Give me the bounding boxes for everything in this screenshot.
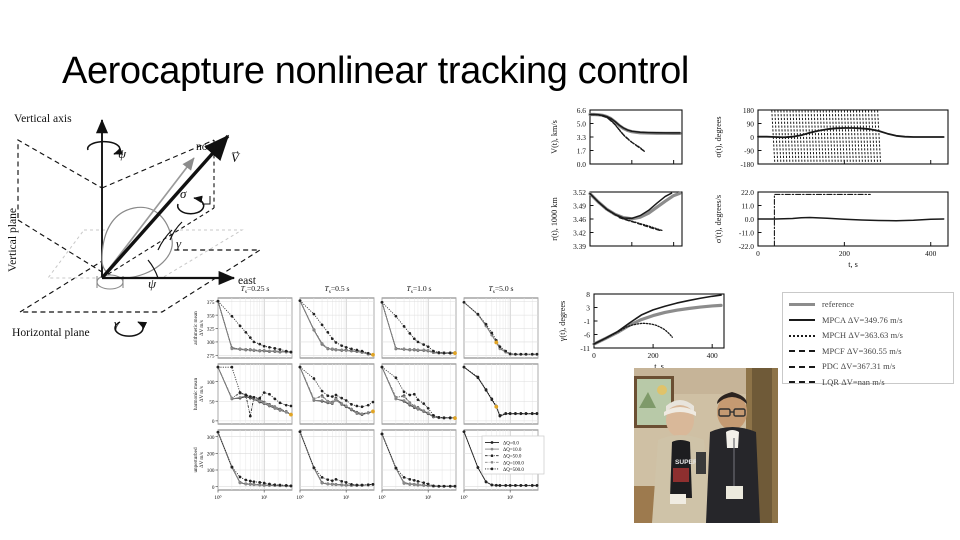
- svg-text:90: 90: [747, 120, 755, 129]
- svg-text:3.3: 3.3: [577, 133, 587, 142]
- svg-text:325: 325: [207, 327, 215, 333]
- photo-art-circle: [657, 385, 667, 395]
- gamma-rotation-arc: [115, 322, 143, 336]
- svg-text:Ts=5.0 s: Ts=5.0 s: [489, 284, 514, 295]
- label-horizontal-plane: Horizontal plane: [12, 326, 90, 339]
- svg-text:300: 300: [207, 340, 215, 346]
- svg-text:0.0: 0.0: [745, 215, 755, 224]
- svg-text:-11.0: -11.0: [739, 229, 754, 238]
- svg-text:Ts=0.25 s: Ts=0.25 s: [241, 284, 270, 295]
- legend-row: LQR ΔV=nan m/s: [789, 375, 947, 391]
- svg-text:ΔQ=50.0: ΔQ=50.0: [503, 455, 522, 460]
- svg-text:3.49: 3.49: [573, 202, 586, 211]
- label-gamma-lower: γ: [114, 316, 120, 331]
- svg-text:400: 400: [707, 351, 718, 360]
- legend-row: reference: [789, 297, 947, 313]
- slide-canvas: Aerocapture nonlinear tracking control: [0, 0, 960, 540]
- svg-text:-90: -90: [744, 147, 754, 156]
- photo-shirt-text: SUPER: [675, 459, 698, 466]
- chart-velocity-history: 0.01.73.35.06.6V(t), km/s: [546, 104, 686, 176]
- legend-swatch-mpch: [789, 335, 815, 337]
- legend-row: PDC ΔV=367.31 m/s: [789, 359, 947, 375]
- page-title: Aerocapture nonlinear tracking control: [62, 48, 902, 96]
- legend-row: MPCH ΔV=363.63 m/s: [789, 328, 947, 344]
- psi-rotation-arc-top: [88, 142, 120, 154]
- label-sigma: σ: [180, 186, 187, 201]
- vertical-plane-outline: [18, 140, 102, 272]
- svg-text:t, s: t, s: [848, 260, 858, 269]
- svg-text:10⁰: 10⁰: [296, 495, 303, 501]
- svg-text:ΔV m/s: ΔV m/s: [199, 452, 205, 468]
- legend-row: MPCA ΔV=349.76 m/s: [789, 313, 947, 329]
- svg-text:σ'(t), degrees/s: σ'(t), degrees/s: [714, 195, 723, 243]
- svg-text:8: 8: [586, 290, 590, 299]
- legend-label-reference: reference: [822, 300, 854, 309]
- svg-text:11.0: 11.0: [741, 202, 754, 211]
- svg-text:375: 375: [207, 300, 215, 306]
- svg-text:300: 300: [207, 435, 215, 441]
- svg-text:-180: -180: [740, 160, 754, 169]
- svg-text:0.0: 0.0: [577, 160, 587, 169]
- chart-bank-angle-history: -180-90090180σ(t), degrees: [708, 104, 952, 176]
- svg-text:0: 0: [592, 351, 596, 360]
- svg-text:6.6: 6.6: [577, 106, 587, 115]
- svg-text:1.7: 1.7: [577, 147, 587, 156]
- label-north: north: [196, 140, 221, 153]
- legend-swatch-mpca: [789, 319, 815, 321]
- conference-photo-two-people: SUPER: [634, 368, 778, 523]
- svg-text:10⁰: 10⁰: [378, 495, 385, 501]
- chart-bank-rate-history: -22.0-11.00.011.022.00200400σ'(t), degre…: [708, 186, 952, 272]
- svg-text:ΔV m/s: ΔV m/s: [199, 320, 205, 336]
- svg-text:-11: -11: [580, 344, 590, 353]
- svg-text:10¹: 10¹: [261, 495, 268, 501]
- svg-text:10⁰: 10⁰: [214, 495, 221, 501]
- photo-shirt-graphic: [673, 468, 689, 482]
- svg-text:10⁰: 10⁰: [460, 495, 467, 501]
- svg-text:200: 200: [648, 351, 659, 360]
- svg-text:3.39: 3.39: [573, 242, 586, 251]
- chart-flight-path-angle-history: -11-6-1380200400γ(t), degreest, s: [554, 288, 730, 374]
- legend-swatch-lqr: [789, 381, 815, 383]
- svg-text:180: 180: [743, 106, 754, 115]
- svg-text:3.46: 3.46: [573, 215, 586, 224]
- label-psi-top: ψ: [118, 146, 127, 161]
- svg-text:Ts=1.0 s: Ts=1.0 s: [407, 284, 432, 295]
- svg-text:ΔQ=100.0: ΔQ=100.0: [503, 461, 524, 466]
- photo-person-left-badge: [670, 494, 686, 504]
- legend-label-pdc: PDC ΔV=367.31 m/s: [822, 362, 895, 371]
- label-gamma: γ: [176, 236, 182, 251]
- legend-label-mpch: MPCH ΔV=363.63 m/s: [822, 331, 903, 340]
- photo-person-right-badge: [726, 486, 743, 499]
- svg-text:5.0: 5.0: [577, 120, 587, 129]
- photo-person-left-pocket: [696, 452, 706, 474]
- svg-text:100: 100: [207, 468, 215, 474]
- photo-person-right-collar: [726, 430, 739, 448]
- svg-text:200: 200: [839, 249, 850, 258]
- svg-text:50: 50: [209, 399, 215, 405]
- svg-text:200: 200: [207, 452, 215, 458]
- svg-text:10¹: 10¹: [507, 495, 514, 501]
- svg-text:ΔV m/s: ΔV m/s: [199, 386, 205, 402]
- svg-text:γ(t), degrees: γ(t), degrees: [558, 301, 567, 342]
- chart-radius-history: 3.393.423.463.493.52r(t), 1000 km: [546, 186, 686, 258]
- label-vertical-plane: Vertical plane: [6, 208, 19, 272]
- legend-swatch-mpcf: [789, 350, 815, 352]
- svg-text:400: 400: [925, 249, 936, 258]
- label-velocity-vector: V→: [230, 145, 241, 165]
- svg-text:r(t), 1000 km: r(t), 1000 km: [550, 197, 559, 241]
- svg-text:3: 3: [586, 304, 590, 313]
- svg-text:10¹: 10¹: [425, 495, 432, 501]
- svg-text:ΔQ=0.0: ΔQ=0.0: [503, 442, 519, 447]
- legend-label-mpcf: MPCF ΔV=360.55 m/s: [822, 347, 902, 356]
- svg-text:ΔQ=10.0: ΔQ=10.0: [503, 448, 522, 453]
- legend-methods: reference MPCA ΔV=349.76 m/s MPCH ΔV=363…: [782, 292, 954, 384]
- svg-text:350: 350: [207, 313, 215, 319]
- svg-text:σ(t), degrees: σ(t), degrees: [714, 116, 723, 157]
- photo-picture-art: [637, 379, 671, 425]
- svg-text:0: 0: [750, 133, 754, 142]
- svg-text:-6: -6: [584, 331, 590, 340]
- svg-text:275: 275: [207, 354, 215, 360]
- svg-text:0: 0: [212, 419, 215, 425]
- svg-text:-22.0: -22.0: [739, 242, 755, 251]
- svg-text:0: 0: [212, 485, 215, 491]
- svg-text:0: 0: [756, 249, 760, 258]
- svg-text:-1: -1: [584, 317, 590, 326]
- svg-text:Ts=0.5 s: Ts=0.5 s: [325, 284, 350, 295]
- legend-label-lqr: LQR ΔV=nan m/s: [822, 378, 885, 387]
- chart-delta-v-sweep-grid: Ts=0.25 sTs=0.5 sTs=1.0 sTs=5.0 sarithme…: [188, 276, 548, 534]
- label-vertical-axis: Vertical axis: [14, 112, 72, 125]
- label-psi-ground: ψ: [148, 276, 157, 291]
- svg-text:V(t), km/s: V(t), km/s: [550, 120, 559, 154]
- svg-text:3.42: 3.42: [573, 229, 586, 238]
- svg-text:100: 100: [207, 380, 215, 386]
- svg-text:10¹: 10¹: [343, 495, 350, 501]
- legend-swatch-pdc: [789, 366, 815, 368]
- svg-text:22.0: 22.0: [741, 188, 754, 197]
- svg-text:ΔQ=500.0: ΔQ=500.0: [503, 468, 524, 473]
- legend-swatch-reference: [789, 303, 815, 306]
- legend-row: MPCF ΔV=360.55 m/s: [789, 344, 947, 360]
- legend-label-mpca: MPCA ΔV=349.76 m/s: [822, 316, 903, 325]
- svg-text:3.52: 3.52: [573, 188, 586, 197]
